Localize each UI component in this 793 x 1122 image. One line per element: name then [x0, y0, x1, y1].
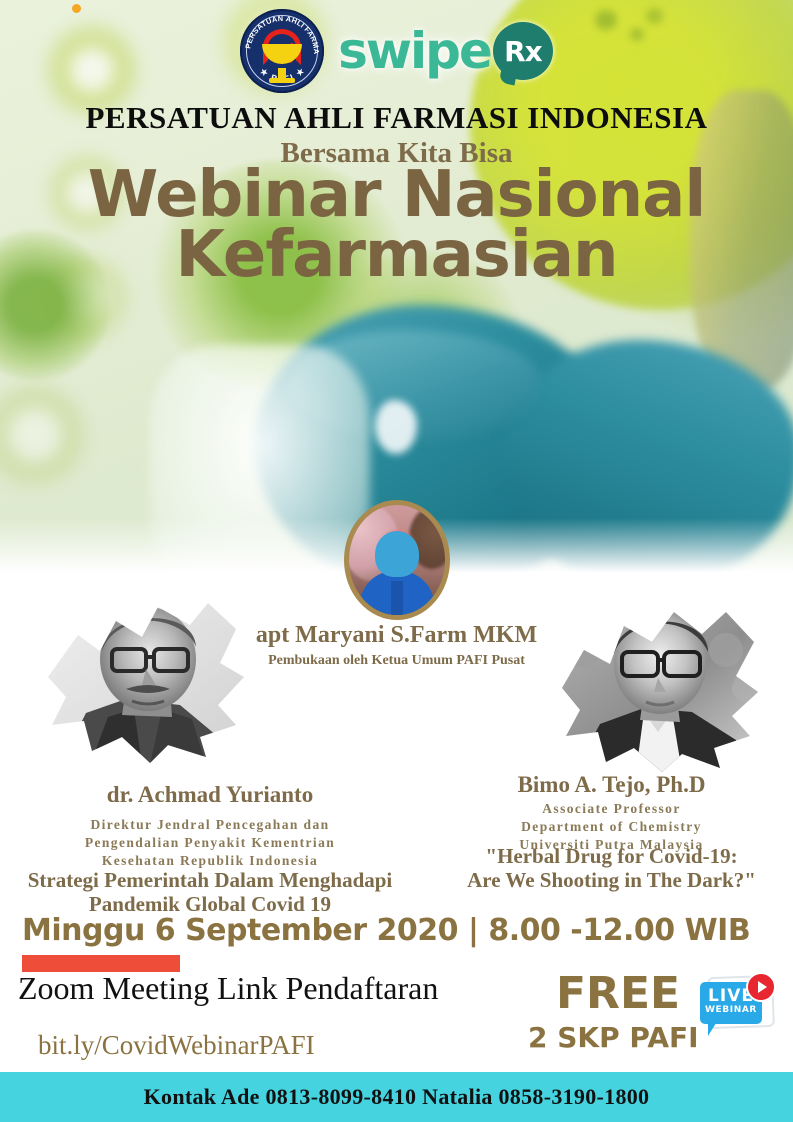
avatar-lapel — [391, 581, 403, 615]
rx-label: Rx — [504, 35, 542, 68]
event-datetime: Minggu 6 September 2020 | 8.00 -12.00 WI… — [22, 913, 750, 948]
avatar-hijab — [375, 531, 419, 577]
left-topic-line-1: Strategi Pemerintah Dalam Menghadapi — [0, 869, 420, 893]
left-speaker-affiliation: Direktur Jendral Pencegahan dan Pengenda… — [0, 816, 420, 871]
live-badge-speech-tail — [708, 1020, 718, 1036]
left-affiliation-line-1: Direktur Jendral Pencegahan dan — [0, 816, 420, 834]
right-topic-line-2: Are We Shooting in The Dark?" — [430, 869, 793, 893]
left-speaker-name: dr. Achmad Yurianto — [0, 782, 420, 808]
pafi-bowl-base-icon — [269, 78, 295, 83]
play-button-icon — [746, 972, 776, 1002]
page-title: Webinar Nasional Kefarmasian — [0, 165, 793, 285]
center-speaker-avatar — [344, 500, 450, 620]
rx-bubble-icon: Rx — [493, 22, 553, 80]
credits-label: 2 SKP PAFI — [528, 1021, 699, 1054]
left-speaker-photo — [30, 585, 260, 765]
contact-bar: Kontak Ade 0813-8099-8410 Natalia 0858-3… — [0, 1072, 793, 1122]
left-speaker-brush-mask — [30, 585, 260, 765]
right-speaker-topic: "Herbal Drug for Covid-19: Are We Shooti… — [430, 845, 793, 892]
virus-shape-icon — [0, 380, 90, 490]
contact-text: Kontak Ade 0813-8099-8410 Natalia 0858-3… — [144, 1084, 650, 1110]
pafi-logo-icon: PERSATUAN AHLI FARMASI INDONESIA ★ PAFI … — [240, 9, 324, 93]
price-label: FREE — [556, 968, 680, 1019]
right-speaker-photo — [540, 592, 775, 772]
organization-name: PERSATUAN AHLI FARMASI INDONESIA — [0, 100, 793, 136]
registration-link[interactable]: bit.ly/CovidWebinarPAFI — [38, 1030, 315, 1061]
logo-row: PERSATUAN AHLI FARMASI INDONESIA ★ PAFI … — [0, 6, 793, 96]
title-line-2: Kefarmasian — [0, 225, 793, 285]
right-speaker-name: Bimo A. Tejo, Ph.D — [430, 772, 793, 798]
swiperx-logo: swipe Rx — [338, 22, 553, 80]
right-speaker-brush-mask — [540, 592, 775, 772]
left-speaker-topic: Strategi Pemerintah Dalam Menghadapi Pan… — [0, 869, 420, 916]
swipe-wordmark: swipe — [338, 22, 491, 80]
right-affiliation-line-1: Associate Professor — [430, 800, 793, 818]
platform-registration-label: Zoom Meeting Link Pendaftaran — [18, 970, 438, 1007]
left-affiliation-line-2: Pengendalian Penyakit Kementrian — [0, 834, 420, 852]
webinar-poster: PERSATUAN AHLI FARMASI INDONESIA ★ PAFI … — [0, 0, 793, 1122]
swipe-dot-icon — [72, 4, 81, 13]
live-webinar-badge-icon: LIVE WEBINAR — [698, 972, 776, 1044]
live-badge-subtitle: WEBINAR — [700, 1005, 762, 1015]
right-topic-line-1: "Herbal Drug for Covid-19: — [430, 845, 793, 869]
right-affiliation-line-2: Department of Chemistry — [430, 818, 793, 836]
